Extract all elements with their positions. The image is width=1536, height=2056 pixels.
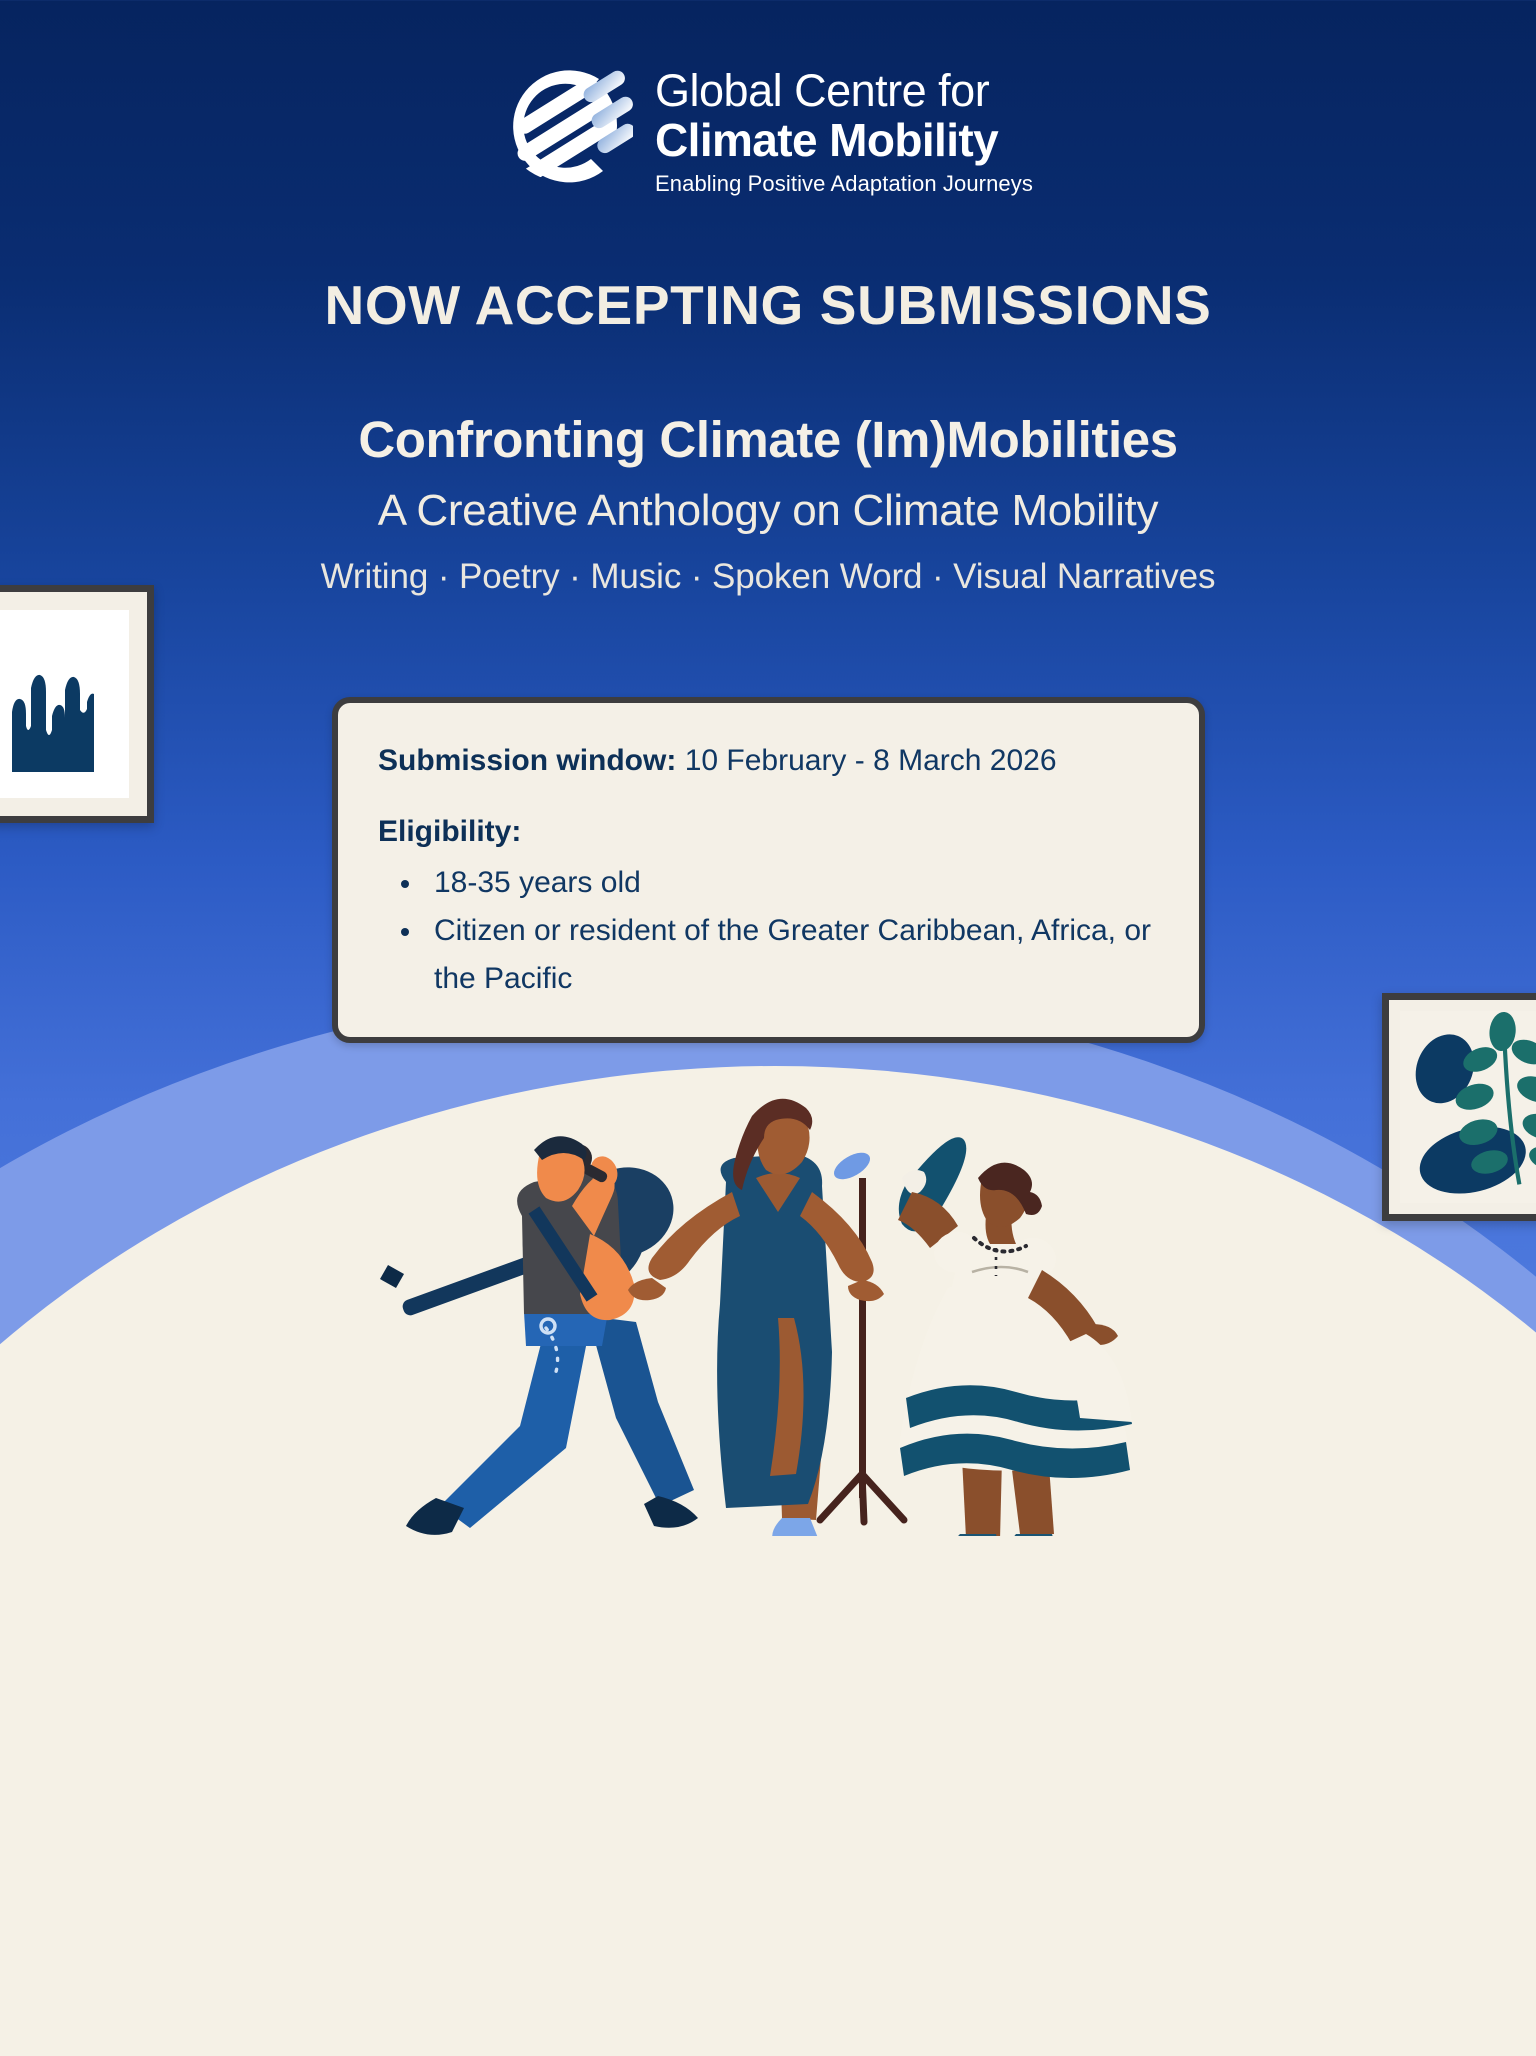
microphone-stand-icon bbox=[820, 1147, 904, 1522]
right-framed-artwork bbox=[1382, 993, 1536, 1221]
submission-window-label: Submission window: bbox=[378, 744, 676, 777]
performers-illustration bbox=[0, 1066, 1536, 1536]
artwork-mat bbox=[1400, 1011, 1536, 1203]
globe-swoosh-logo-icon bbox=[503, 55, 633, 195]
disciplines-list: Writing · Poetry · Music · Spoken Word ·… bbox=[0, 556, 1536, 598]
eligibility-label: Eligibility: bbox=[378, 815, 1159, 849]
list-item: Citizen or resident of the Greater Carib… bbox=[424, 907, 1159, 1003]
left-framed-artwork bbox=[0, 585, 154, 823]
guitarist-singer-figure bbox=[380, 1136, 698, 1535]
brand-name-line2: Climate Mobility bbox=[655, 115, 1033, 167]
kicker-text: NOW ACCEPTING SUBMISSIONS bbox=[0, 275, 1536, 336]
page-title: Confronting Climate (Im)Mobilities bbox=[0, 411, 1536, 470]
page-subtitle: A Creative Anthology on Climate Mobility bbox=[0, 485, 1536, 538]
fan-dancer-figure bbox=[898, 1137, 1132, 1536]
brand-wordmark: Global Centre for Climate Mobility Enabl… bbox=[655, 55, 1033, 197]
brand-tagline: Enabling Positive Adaptation Journeys bbox=[655, 171, 1033, 197]
eligibility-list: 18-35 years old Citizen or resident of t… bbox=[424, 859, 1159, 1003]
botanical-leaves-artwork-icon bbox=[1400, 1011, 1536, 1203]
headline-block: NOW ACCEPTING SUBMISSIONS Confronting Cl… bbox=[0, 275, 1536, 598]
list-item: 18-35 years old bbox=[424, 859, 1159, 907]
abstract-skyline-artwork-icon bbox=[4, 654, 114, 774]
artwork-mat bbox=[0, 610, 129, 798]
brand-logo-block: Global Centre for Climate Mobility Enabl… bbox=[0, 55, 1536, 197]
submission-info-card: Submission window: 10 February - 8 March… bbox=[332, 697, 1205, 1043]
brand-name-line1: Global Centre for bbox=[655, 67, 1033, 115]
submission-window-dates: 10 February - 8 March 2026 bbox=[685, 744, 1057, 777]
submission-window-row: Submission window: 10 February - 8 March… bbox=[378, 741, 1159, 781]
